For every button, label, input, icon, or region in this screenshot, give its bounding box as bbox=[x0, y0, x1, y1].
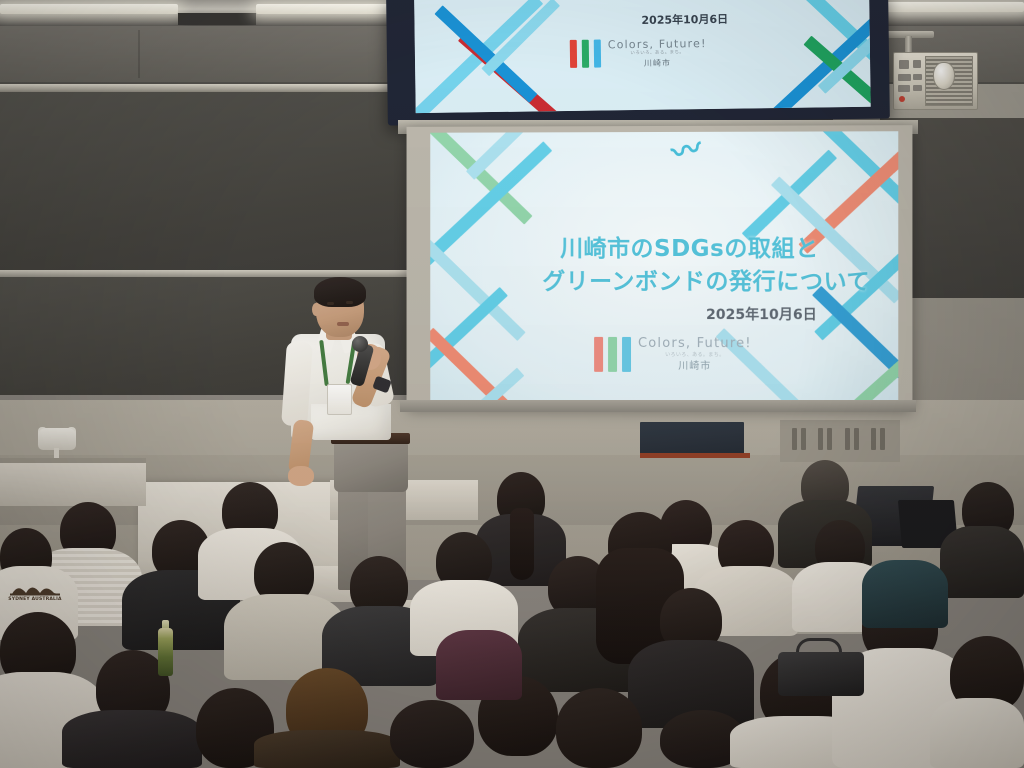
speaker-eye-right bbox=[346, 301, 353, 304]
logo-city-text: 川崎市 bbox=[644, 59, 671, 67]
projector-control bbox=[898, 74, 911, 81]
logo-sub-text: いろいろ、ある。まち。 bbox=[630, 51, 684, 56]
projector-control bbox=[913, 60, 921, 68]
audience-head bbox=[556, 688, 642, 768]
vent-slot bbox=[818, 428, 823, 450]
overhead-monitor: 2025年10月6日 Colors, Future! いろいろ、ある。まち。 川… bbox=[386, 0, 890, 125]
presentation-slide: 〰 川崎市のSDGsの取組と グリーンボンドの発行について 2025年10月6日… bbox=[430, 131, 898, 405]
logo-main-text: Colors, Future! bbox=[608, 38, 707, 50]
logo-main-text: Colors, Future! bbox=[638, 337, 752, 350]
slide-title-line1: 川崎市のSDGsの取組と bbox=[560, 229, 819, 263]
speaker-hair bbox=[314, 277, 366, 307]
projector-power-led bbox=[899, 96, 905, 102]
slide-stripe bbox=[430, 239, 525, 341]
slide-title-line2: グリーンボンドの発行について bbox=[542, 262, 870, 296]
logo-bar-red bbox=[594, 337, 603, 372]
projector-control bbox=[899, 60, 909, 69]
projection-screen-surface: 〰 川崎市のSDGsの取組と グリーンボンドの発行について 2025年10月6日… bbox=[430, 131, 898, 405]
logo-bar-cyan bbox=[594, 40, 601, 68]
audience-body bbox=[62, 710, 202, 768]
shoulder-bag bbox=[778, 652, 864, 696]
tshirt-opera-house-graphic bbox=[10, 580, 62, 596]
logo-bar-green bbox=[582, 40, 589, 68]
microphone-head bbox=[352, 336, 368, 352]
audience-body bbox=[862, 560, 948, 628]
logo-text: Colors, Future! いろいろ、ある。まち。 川崎市 bbox=[608, 38, 707, 68]
logo-city-text: 川崎市 bbox=[678, 362, 711, 372]
speaker-eye-left bbox=[327, 302, 334, 305]
vent-slot bbox=[871, 428, 876, 450]
speaker-ear bbox=[312, 303, 320, 316]
vent-slot bbox=[845, 428, 850, 450]
slide-stripe bbox=[430, 328, 519, 405]
speaker-id-badge bbox=[327, 384, 352, 415]
audience-body bbox=[254, 730, 400, 768]
speaker-hand-left bbox=[288, 466, 314, 486]
projector-control bbox=[913, 74, 922, 80]
vent-slot bbox=[801, 428, 806, 450]
projector-control bbox=[898, 85, 910, 92]
logo-bars bbox=[594, 337, 631, 372]
slide-date: 2025年10月6日 bbox=[706, 304, 817, 324]
monitor-slide-logo: Colors, Future! いろいろ、ある。まち。 川崎市 bbox=[570, 38, 707, 68]
projector-control bbox=[913, 85, 922, 91]
audience-head bbox=[390, 700, 474, 768]
wall-divider-line bbox=[138, 30, 140, 78]
slide-logo: Colors, Future! いろいろ、ある。まち。 川崎市 bbox=[594, 337, 752, 372]
vent-slot bbox=[792, 428, 797, 450]
slide-logo-mark: 〰 bbox=[666, 131, 706, 173]
recording-camera bbox=[38, 428, 76, 450]
monitor-slide: 2025年10月6日 Colors, Future! いろいろ、ある。まち。 川… bbox=[414, 0, 871, 113]
front-desk-left-edge bbox=[0, 458, 146, 463]
logo-bar-red bbox=[570, 40, 577, 68]
monitor-slide-date: 2025年10月6日 bbox=[641, 11, 728, 28]
vent-slot bbox=[880, 428, 885, 450]
logo-text: Colors, Future! いろいろ、ある。まち。 川崎市 bbox=[638, 337, 752, 372]
projector-lens bbox=[933, 62, 955, 90]
lecture-hall-photo: 2025年10月6日 Colors, Future! いろいろ、ある。まち。 川… bbox=[0, 0, 1024, 768]
ceiling-light-1 bbox=[0, 4, 178, 14]
audience-body bbox=[930, 698, 1024, 768]
overhead-monitor-screen: 2025年10月6日 Colors, Future! いろいろ、ある。まち。 川… bbox=[414, 0, 871, 113]
screen-bottom-bar bbox=[400, 400, 916, 412]
audience-body bbox=[436, 630, 522, 700]
lower-wall-board-ledge bbox=[640, 453, 750, 458]
speaker-mouth bbox=[337, 322, 349, 326]
audience-body bbox=[940, 526, 1024, 598]
vent-slot bbox=[854, 428, 859, 450]
logo-bar-cyan bbox=[622, 337, 631, 372]
logo-sub-text: いろいろ、ある。まち。 bbox=[665, 353, 724, 358]
logo-bar-green bbox=[608, 337, 617, 372]
water-bottle bbox=[158, 628, 173, 676]
front-desk-left bbox=[0, 460, 146, 506]
lower-wall-board bbox=[640, 422, 744, 456]
projection-screen: 〰 川崎市のSDGsの取組と グリーンボンドの発行について 2025年10月6日… bbox=[407, 125, 913, 409]
tshirt-text: SYDNEY AUSTRALIA bbox=[6, 597, 64, 602]
logo-bars bbox=[570, 40, 601, 68]
speaker-hips bbox=[334, 440, 408, 492]
ceiling-segment-1 bbox=[178, 13, 256, 25]
audience-ponytail bbox=[510, 508, 534, 580]
vent-slot bbox=[827, 428, 832, 450]
